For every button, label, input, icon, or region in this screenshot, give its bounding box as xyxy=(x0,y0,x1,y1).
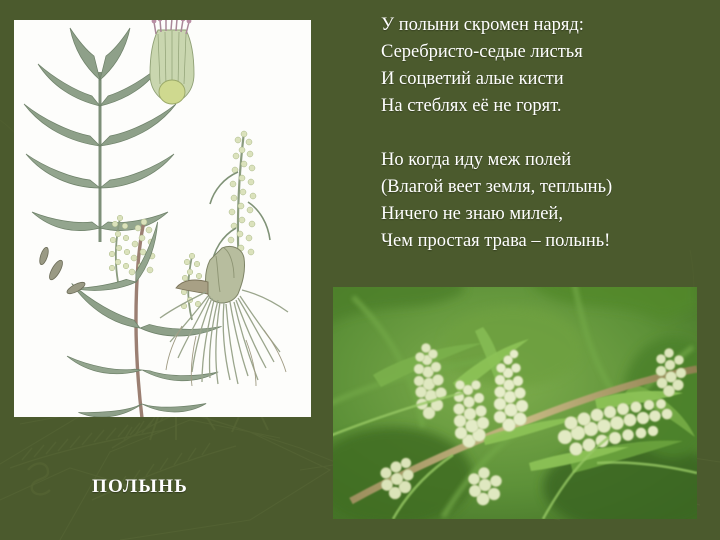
flower-head-detail xyxy=(150,20,194,104)
poem-line: На стеблях её не горят. xyxy=(381,96,562,116)
poem-line: Чем простая трава – полынь! xyxy=(381,231,610,251)
plant-name-caption: ПОЛЫНЬ xyxy=(92,477,188,496)
slide: У полыни скромен наряд: Серебристо-седые… xyxy=(0,0,720,540)
poem-line: И соцветий алые кисти xyxy=(381,69,564,89)
poem-line: Ничего не знаю милей, xyxy=(381,204,563,224)
wormwood-photograph xyxy=(333,287,697,519)
poem-line: Но когда иду меж полей xyxy=(381,150,571,170)
poem-stanza-1: У полыни скромен наряд: Серебристо-седые… xyxy=(381,12,711,120)
botanical-illustration-plate xyxy=(14,20,311,417)
poem-stanza-2: Но когда иду меж полей (Влагой веет земл… xyxy=(381,147,711,255)
poem-text: У полыни скромен наряд: Серебристо-седые… xyxy=(381,12,711,255)
poem-line: Серебристо-седые листья xyxy=(381,42,583,62)
poem-line: У полыни скромен наряд: xyxy=(381,15,584,35)
poem-line: (Влагой веет земля, теплынь) xyxy=(381,177,612,197)
wormwood-botanical-drawing xyxy=(14,20,311,417)
